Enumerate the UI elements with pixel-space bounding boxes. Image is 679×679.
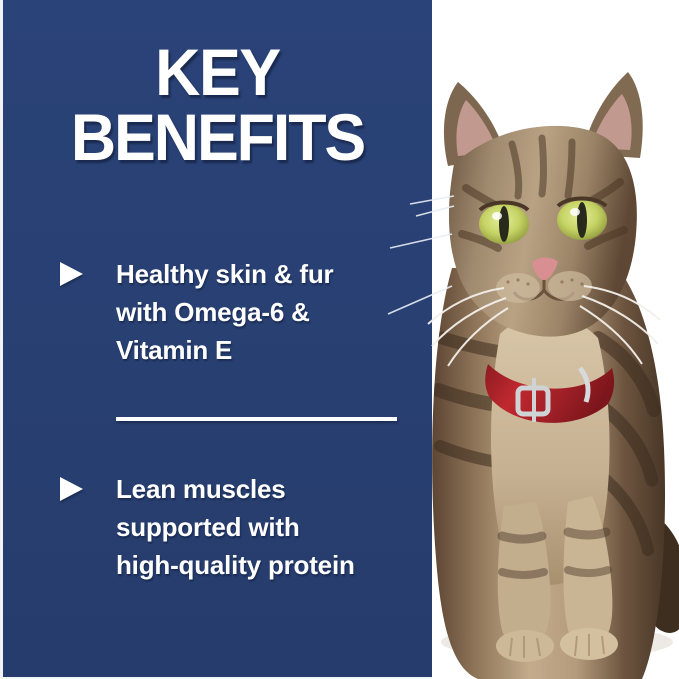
benefits-panel: KEY BENEFITS Healthy skin & fur with Ome… xyxy=(3,0,432,677)
triangle-right-icon xyxy=(60,262,83,286)
page-title: KEY BENEFITS xyxy=(14,40,422,171)
benefit-text-2: Lean muscles supported with high-quality… xyxy=(116,471,355,585)
triangle-right-icon xyxy=(60,477,83,501)
benefit-text-1: Healthy skin & fur with Omega-6 & Vitami… xyxy=(116,256,333,370)
cat-svg xyxy=(392,38,679,679)
benefit-item-1: Healthy skin & fur with Omega-6 & Vitami… xyxy=(60,256,410,370)
title-line-2: BENEFITS xyxy=(14,105,422,170)
cat-photo xyxy=(432,0,679,679)
key-benefits-banner: KEY BENEFITS Healthy skin & fur with Ome… xyxy=(0,0,679,679)
divider xyxy=(116,417,397,421)
cat-illustration xyxy=(392,38,679,679)
title-line-1: KEY xyxy=(14,40,422,105)
benefit-item-2: Lean muscles supported with high-quality… xyxy=(60,471,410,585)
left-edge-strip xyxy=(0,0,3,679)
